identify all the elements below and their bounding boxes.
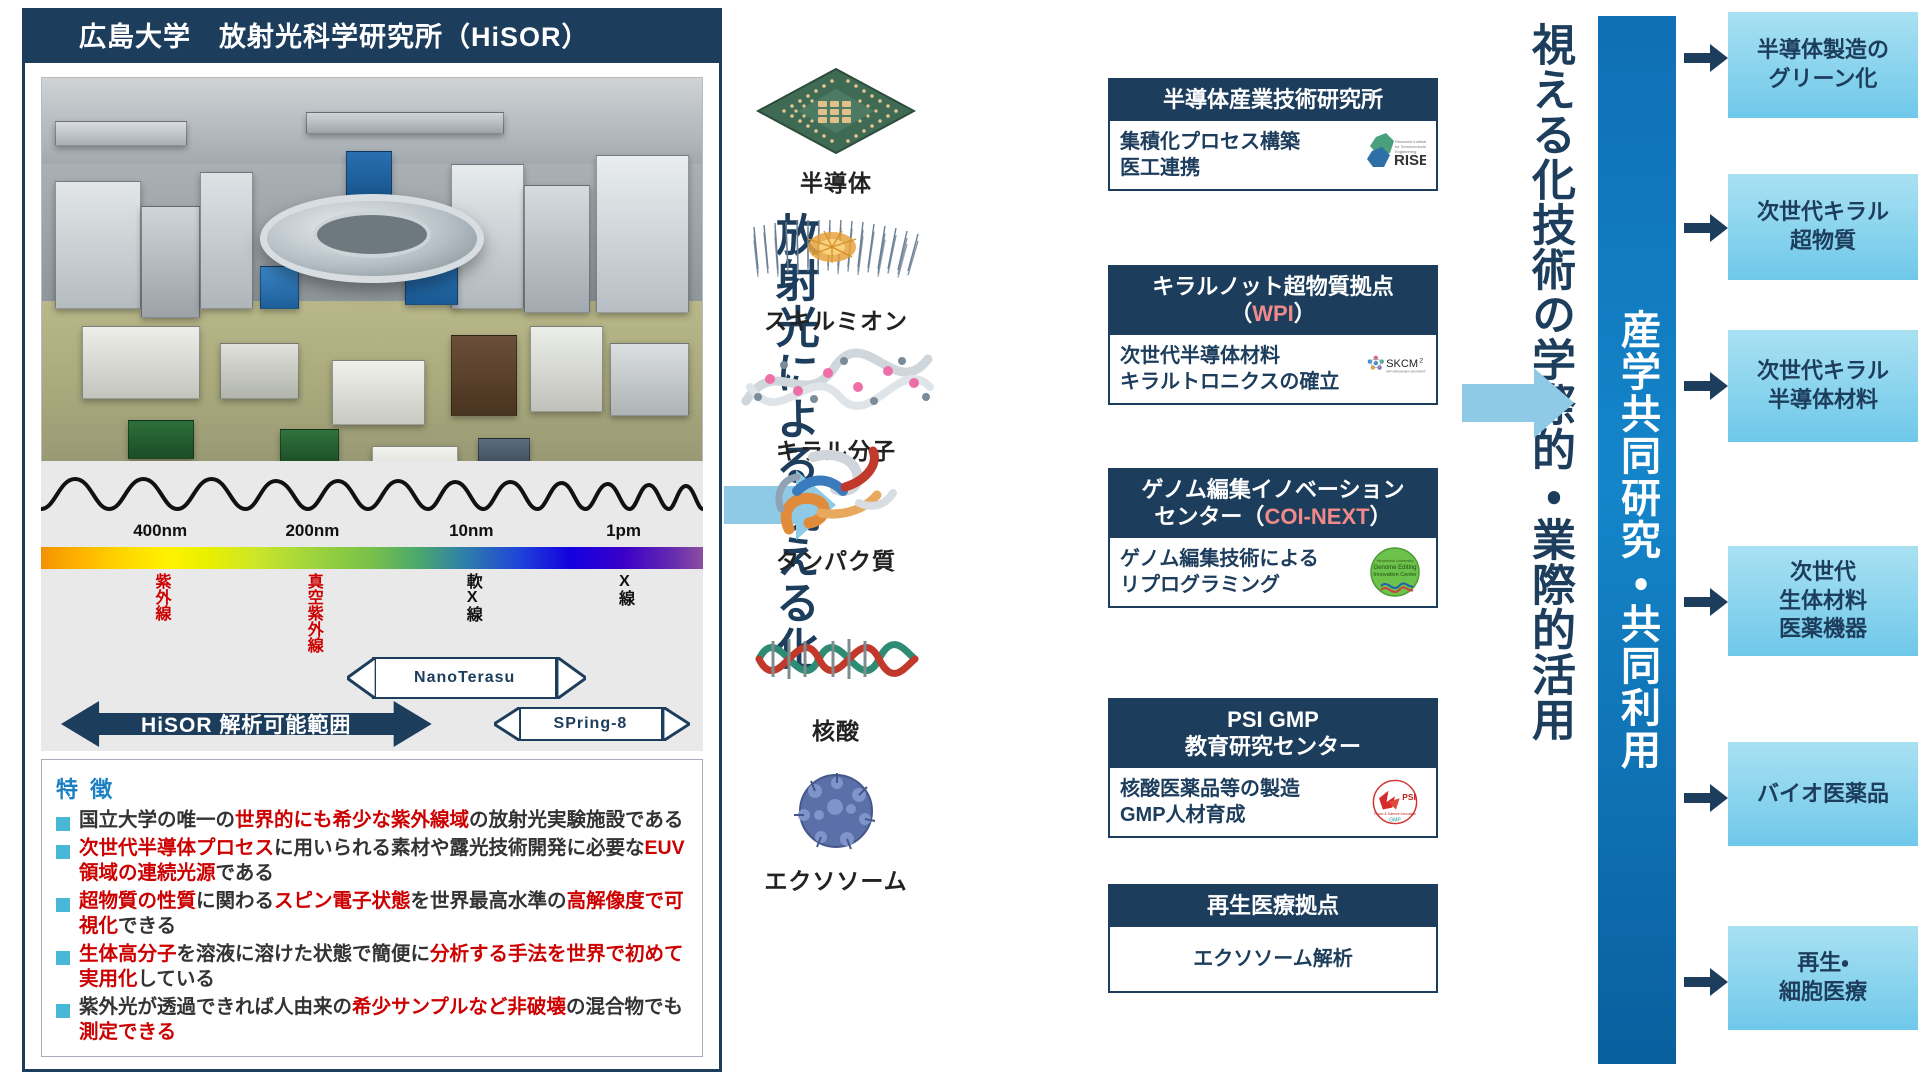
band-label-xray: X線 [615, 573, 632, 606]
wavelength-wave [41, 465, 703, 525]
features-box: 特 徴 国立大学の唯一の世界的にも希少な紫外線域の放射光実験施設である次世代半導… [41, 759, 703, 1057]
page-title: 広島大学 放射光科学研究所（HiSOR） [25, 11, 719, 63]
sample-caption: タンパク質 [726, 542, 946, 576]
institute-card-regen[interactable]: 再生医療拠点 エクソソーム解析 [1108, 884, 1438, 993]
feature-plain: である [216, 862, 274, 884]
institute-card-rise[interactable]: 半導体産業技術研究所 集積化プロセス構築 医工連携 RISE Research … [1108, 78, 1438, 191]
outcome-label: 次世代キラル超物質 [1757, 198, 1889, 255]
svg-text:SKCM: SKCM [1386, 357, 1418, 369]
feature-highlight: スピン電子状態 [274, 890, 411, 912]
band-label-soft-xray: 軟X線 [463, 573, 480, 622]
bullet-icon [56, 951, 70, 965]
range-spring8-label: SPring-8 [520, 709, 662, 739]
bullet-icon [56, 1004, 70, 1018]
institute-head: ゲノム編集イノベーション センター（COI-NEXT） [1110, 470, 1436, 538]
institute-head: 再生医療拠点 [1110, 886, 1436, 927]
rise-logo-icon: RISE Research Institute for Semiconducto… [1364, 129, 1426, 181]
outcome-arrow-6 [1684, 968, 1728, 996]
spring8-left-head [494, 707, 520, 741]
feature-plain: 国立大学の唯一の [79, 809, 235, 831]
feature-text: 紫外光が透過できれば人由来の希少サンプルなど非破壊の混合物でも測定できる [79, 995, 688, 1045]
bullet-icon [56, 817, 70, 831]
tick-200nm: 200nm [285, 521, 339, 541]
feature-plain: できる [118, 915, 176, 937]
institute-line: ゲノム編集技術による [1120, 546, 1319, 572]
skcm2-logo-icon: SKCM 2 WPI HIROSHIMA UNIVERSITY [1364, 343, 1426, 395]
feature-highlight: 次世代半導体プロセス [79, 837, 274, 859]
nanoterasu-right-head [557, 657, 586, 699]
nanoterasu-left-head [347, 657, 376, 699]
institute-head-main: PSI GMP [1114, 707, 1432, 734]
feature-text: 生体高分子を溶液に溶けた状態で簡便に分析する手法を世界で初めて実用化している [79, 942, 688, 992]
svg-text:WPI HIROSHIMA UNIVERSITY: WPI HIROSHIMA UNIVERSITY [1386, 369, 1426, 373]
svg-text:Innovation Center: Innovation Center [1373, 572, 1417, 578]
tick-10nm: 10nm [449, 521, 493, 541]
psi-gmp-logo-icon: PSI Peace & Science Innovation GMP [1364, 776, 1426, 828]
outcome-label: バイオ医薬品 [1757, 780, 1889, 809]
institute-line: 集積化プロセス構築 [1120, 129, 1300, 155]
exosome-icon [726, 760, 946, 858]
svg-text:Peace & Science Innovation: Peace & Science Innovation [1374, 812, 1416, 816]
institute-card-wpi[interactable]: キラルノット超物質拠点 （WPI） 次世代半導体材料 キラルトロニクスの確立 [1108, 265, 1438, 405]
outcome-box-chiral-meta[interactable]: 次世代キラル超物質 [1728, 174, 1918, 280]
institute-head: 半導体産業技術研究所 [1110, 80, 1436, 121]
feature-highlight: 生体高分子 [79, 943, 177, 965]
feature-plain: を溶液に溶けた状態で簡便に [177, 943, 431, 965]
outcome-label: 次世代キラル半導体材料 [1757, 357, 1889, 414]
bullet-icon [56, 898, 70, 912]
feature-highlight: 分析する手法を [430, 943, 567, 965]
sample-caption: 核酸 [726, 712, 946, 746]
feature-plain: 紫外光が透過できれば人由来の [79, 996, 352, 1018]
features-heading: 特 徴 [56, 772, 688, 804]
institute-head-main: ゲノム編集イノベーション [1114, 477, 1432, 504]
feature-plain: を世界最高水準の [411, 890, 567, 912]
outcome-box-green-semi[interactable]: 半導体製造のグリーン化 [1728, 12, 1918, 118]
svg-text:Genome Editing: Genome Editing [1373, 565, 1416, 571]
outcome-box-chiral-semi[interactable]: 次世代キラル半導体材料 [1728, 330, 1918, 442]
feature-highlight: 測定できる [79, 1021, 176, 1043]
tick-400nm: 400nm [133, 521, 187, 541]
outcome-label: 次世代生体材料医薬機器 [1779, 558, 1867, 644]
svg-text:Hiroshima University: Hiroshima University [1377, 558, 1414, 563]
tick-1pm: 1pm [606, 521, 641, 541]
range-nanoterasu: NanoTerasu [372, 657, 557, 699]
institute-head: キラルノット超物質拠点 （WPI） [1110, 267, 1436, 335]
facility-photo [41, 77, 703, 507]
bullet-icon [56, 845, 70, 859]
dna-helix-icon [726, 610, 946, 708]
institute-body: エクソソーム解析 [1110, 927, 1436, 991]
outcome-arrow-1 [1684, 44, 1728, 72]
svg-text:RISE: RISE [1394, 152, 1426, 169]
svg-text:GMP: GMP [1389, 817, 1401, 823]
institute-head: PSI GMP 教育研究センター [1110, 700, 1436, 768]
feature-highlight: 世界的にも希少な紫外線域 [235, 809, 469, 831]
institute-head-sub: 教育研究センター [1114, 734, 1432, 761]
institute-line: GMP人材育成 [1120, 802, 1300, 828]
spectrum-diagram: 400nm 200nm 10nm 1pm 紫外線 真空紫外線 軟X線 X線 Na… [41, 461, 703, 751]
outcome-box-biopharma[interactable]: バイオ医薬品 [1728, 742, 1918, 846]
feature-item: 超物質の性質に関わるスピン電子状態を世界最高水準の高解像度で可視化できる [56, 889, 688, 939]
range-hisor-label: HiSOR 解析可能範囲 [141, 709, 351, 739]
feature-item: 紫外光が透過できれば人由来の希少サンプルなど非破壊の混合物でも測定できる [56, 995, 688, 1045]
range-nanoterasu-label: NanoTerasu [374, 659, 555, 697]
outcome-arrow-5 [1684, 784, 1728, 812]
range-spring8: SPring-8 [518, 707, 664, 741]
feature-text: 次世代半導体プロセスに用いられる素材や露光技術開発に必要なEUV領域の連続光源で… [79, 836, 688, 886]
flow-arrow-right [1462, 368, 1574, 438]
svg-text:Engineering: Engineering [1395, 149, 1416, 154]
outcome-box-regen-cell[interactable]: 再生・細胞医療 [1728, 926, 1918, 1030]
outcome-label: 半導体製造のグリーン化 [1757, 36, 1889, 93]
skyrmion-icon [726, 200, 946, 298]
feature-plain: の放射光実験施設である [469, 809, 683, 831]
outcome-label: 再生・細胞医療 [1779, 949, 1867, 1006]
institute-body: 次世代半導体材料 キラルトロニクスの確立 SKCM 2 [1110, 335, 1436, 403]
feature-plain: に関わる [196, 890, 274, 912]
institute-card-coinext[interactable]: ゲノム編集イノベーション センター（COI-NEXT） ゲノム編集技術による リ… [1108, 468, 1438, 608]
feature-plain: の混合物でも [566, 996, 683, 1018]
institute-body: 集積化プロセス構築 医工連携 RISE Research Institute f… [1110, 121, 1436, 189]
institute-head-accent: （WPI） [1114, 301, 1432, 328]
band-label-uv: 紫外線 [152, 573, 169, 621]
sample-caption: 半導体 [726, 164, 946, 198]
feature-item: 生体高分子を溶液に溶けた状態で簡便に分析する手法を世界で初めて実用化している [56, 942, 688, 992]
chiral-molecule-icon [726, 330, 946, 428]
institute-line: キラルトロニクスの確立 [1120, 369, 1339, 395]
industry-academia-label: 産学共同研究・共同利用 [1615, 309, 1659, 771]
outcome-arrow-4 [1684, 588, 1728, 616]
feature-item: 国立大学の唯一の世界的にも希少な紫外線域の放射光実験施設である [56, 808, 688, 833]
institute-line: 次世代半導体材料 [1120, 343, 1339, 369]
feature-text: 国立大学の唯一の世界的にも希少な紫外線域の放射光実験施設である [79, 808, 683, 833]
institute-body: 核酸医薬品等の製造 GMP人材育成 PSI Peace & Science In… [1110, 768, 1436, 836]
wavelength-ticks: 400nm 200nm 10nm 1pm [41, 521, 703, 545]
band-label-vuv: 真空紫外線 [304, 573, 321, 653]
svg-text:2: 2 [1419, 357, 1423, 364]
institute-line: 核酸医薬品等の製造 [1120, 776, 1300, 802]
sample-caption: エクソソーム [726, 862, 946, 896]
sample-protein: タンパク質 [726, 440, 946, 576]
institute-line: 医工連携 [1120, 155, 1300, 181]
infographic-root: 広島大学 放射光科学研究所（HiSOR） [0, 0, 1920, 1080]
feature-plain: している [138, 968, 215, 990]
industry-academia-bar: 産学共同研究・共同利用 [1598, 16, 1676, 1064]
feature-plain: に用いられる素材や露光技術開発に必要な [274, 837, 645, 859]
institute-head-main: キラルノット超物質拠点 [1114, 274, 1432, 301]
outcome-arrow-2 [1684, 214, 1728, 242]
sample-exosome: エクソソーム [726, 760, 946, 896]
protein-ribbon-icon [726, 440, 946, 538]
feature-text: 超物質の性質に関わるスピン電子状態を世界最高水準の高解像度で可視化できる [79, 889, 688, 939]
svg-text:PSI: PSI [1402, 792, 1416, 802]
sample-skyrmion: スキルミオン [726, 200, 946, 336]
hisor-panel: 広島大学 放射光科学研究所（HiSOR） [22, 8, 722, 1072]
spring8-right-head [663, 707, 689, 741]
institute-body: ゲノム編集技術による リプログラミング Hiroshima University… [1110, 538, 1436, 606]
sample-nucleic: 核酸 [726, 610, 946, 746]
spectrum-gradient-bar [41, 547, 703, 569]
institute-card-psigmp[interactable]: PSI GMP 教育研究センター 核酸医薬品等の製造 GMP人材育成 PSI P… [1108, 698, 1438, 838]
feature-highlight: 超物質の性質 [79, 890, 196, 912]
semiconductor-chip-icon [726, 62, 946, 160]
sample-semiconductor: 半導体 [726, 62, 946, 198]
outcome-box-biomaterial[interactable]: 次世代生体材料医薬機器 [1728, 546, 1918, 656]
features-list: 国立大学の唯一の世界的にも希少な紫外線域の放射光実験施設である次世代半導体プロセ… [56, 808, 688, 1045]
feature-item: 次世代半導体プロセスに用いられる素材や露光技術開発に必要なEUV領域の連続光源で… [56, 836, 688, 886]
institute-head-accent: センター（COI-NEXT） [1114, 504, 1432, 531]
feature-highlight: 希少サンプルなど非破壊 [352, 996, 566, 1018]
genome-editing-logo-icon: Hiroshima University Genome Editing Inno… [1364, 546, 1426, 598]
institute-line: リプログラミング [1120, 572, 1319, 598]
outcome-arrow-3 [1684, 372, 1728, 400]
institute-line: エクソソーム解析 [1193, 946, 1352, 972]
